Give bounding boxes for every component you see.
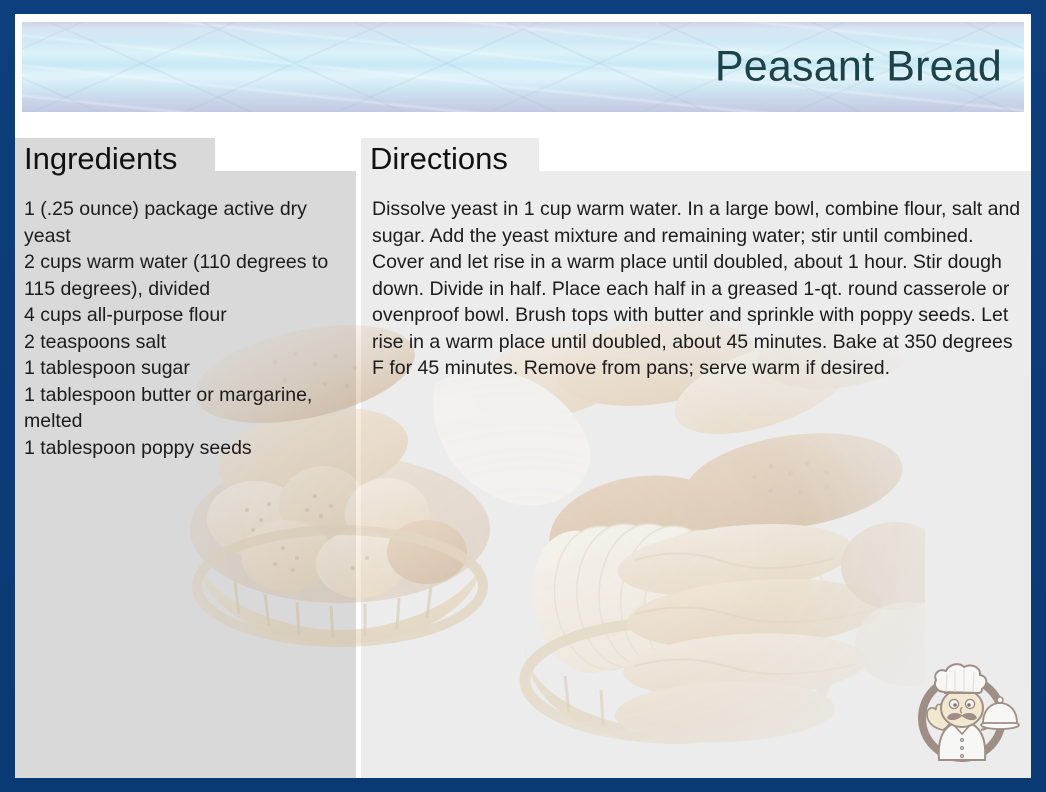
slide-frame: Peasant Bread (0, 0, 1046, 792)
list-item: 4 cups all-purpose flour (24, 302, 354, 329)
list-item: 2 teaspoons salt (24, 329, 354, 356)
list-item: 1 tablespoon butter or margarine, melted (24, 382, 354, 435)
chef-mascot-logo (903, 652, 1021, 770)
ingredients-heading-label: Ingredients (24, 143, 177, 174)
directions-heading-label: Directions (370, 143, 508, 174)
directions-body-text: Dissolve yeast in 1 cup warm water. In a… (372, 196, 1026, 382)
directions-heading-tab: Directions (361, 138, 539, 178)
list-item: 1 tablespoon sugar (24, 355, 354, 382)
list-item: 1 (.25 ounce) package active dry yeast (24, 196, 354, 249)
ingredients-list: 1 (.25 ounce) package active dry yeast 2… (24, 196, 354, 461)
title-banner: Peasant Bread (22, 22, 1024, 112)
slide-canvas: Peasant Bread (15, 14, 1031, 778)
chef-mascot-icon (903, 652, 1021, 770)
page-title: Peasant Bread (715, 44, 1002, 89)
list-item: 2 cups warm water (110 degrees to 115 de… (24, 249, 354, 302)
list-item: 1 tablespoon poppy seeds (24, 435, 354, 462)
ingredients-heading-tab: Ingredients (15, 138, 215, 178)
